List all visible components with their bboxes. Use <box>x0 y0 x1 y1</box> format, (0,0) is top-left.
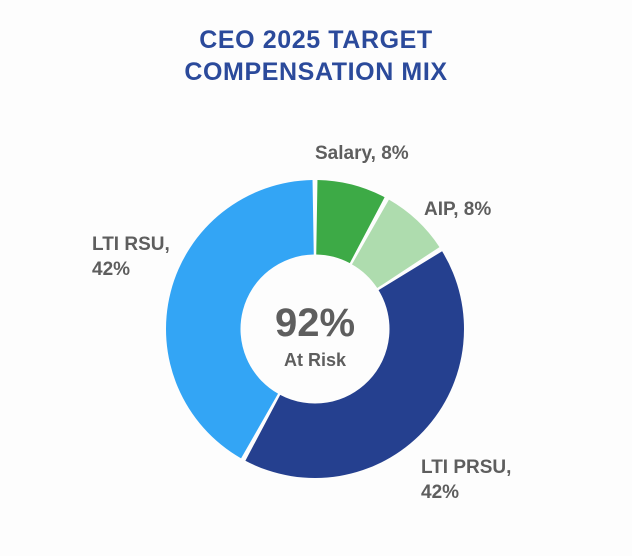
center-value-text: 92% <box>275 301 355 345</box>
center-caption-text: At Risk <box>284 350 347 370</box>
donut-chart-figure: CEO 2025 TARGET COMPENSATION MIX 92% At … <box>0 0 632 556</box>
label-lti-rsu: LTI RSU, 42% <box>92 232 242 282</box>
label-salary: Salary, 8% <box>315 141 495 166</box>
label-aip: AIP, 8% <box>424 197 584 222</box>
slice-lti-prsu[interactable] <box>245 251 464 478</box>
label-lti-prsu: LTI PRSU, 42% <box>421 455 611 505</box>
